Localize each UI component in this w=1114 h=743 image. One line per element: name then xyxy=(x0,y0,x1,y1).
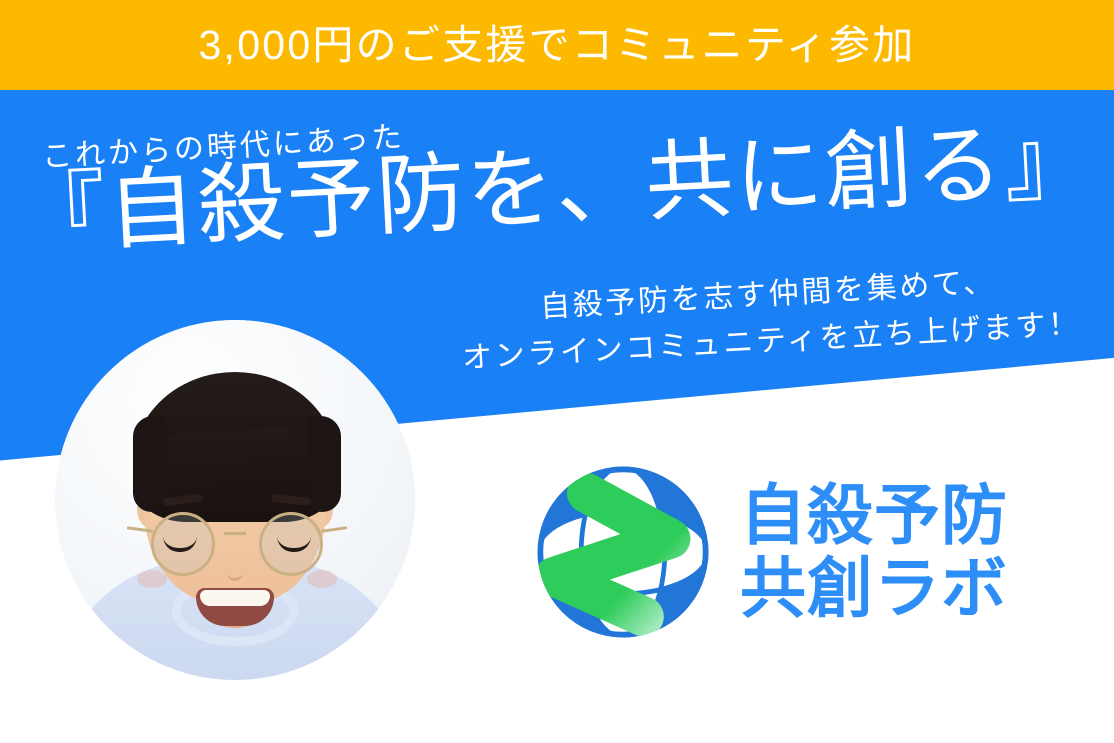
hair-side-left xyxy=(133,416,167,512)
hair-side-right xyxy=(307,416,341,512)
teeth xyxy=(200,590,270,606)
logo-wordmark-line-2: 共創ラボ xyxy=(740,553,1008,624)
top-ribbon: 3,000円のご支援でコミュニティ参加 xyxy=(0,0,1114,90)
globe-z-arrow-logo-icon xyxy=(528,457,718,647)
portrait-photo xyxy=(55,320,415,680)
nose xyxy=(227,564,243,581)
logo-lockup: 自殺予防 共創ラボ xyxy=(528,452,1058,652)
ribbon-text: 3,000円のご支援でコミュニティ参加 xyxy=(199,25,916,66)
cheek-right xyxy=(307,570,337,588)
promotional-banner: 3,000円のご支援でコミュニティ参加 これからの時代にあった 『自殺予防を、共… xyxy=(0,0,1114,743)
logo-wordmark: 自殺予防 共創ラボ xyxy=(740,480,1008,625)
glasses-bridge xyxy=(224,532,246,535)
cheek-left xyxy=(137,570,167,588)
logo-wordmark-line-1: 自殺予防 xyxy=(740,480,1008,551)
glasses-temple-right xyxy=(321,526,347,533)
portrait-background xyxy=(55,320,415,680)
